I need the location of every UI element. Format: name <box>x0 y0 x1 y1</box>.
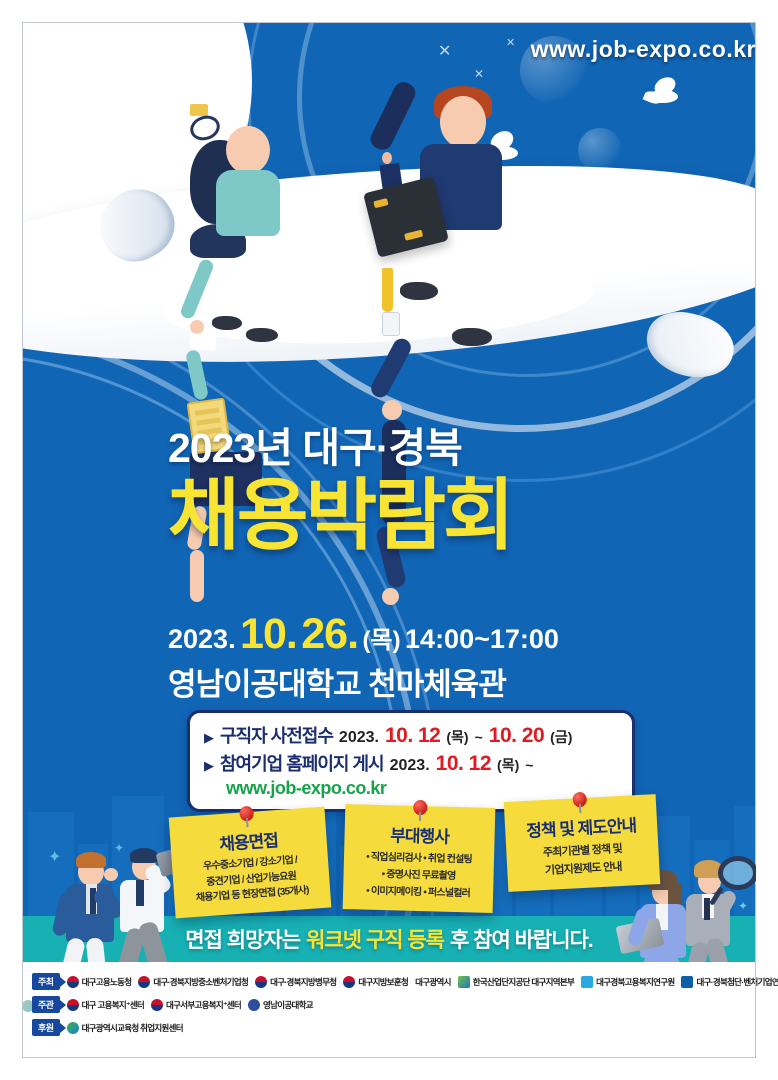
marquee-notice: 면접 희망자는 워크넷 구직 등록 후 참여 바랍니다. <box>22 916 756 962</box>
footer-org: 한국산업단지공단 대구지역본부 <box>458 976 574 988</box>
marquee-pre: 면접 희망자는 <box>185 924 300 954</box>
note-body: • 직업심리검사 • 취업 컨설팅 • 증명사진 무료촬영 • 이미지메이킹 •… <box>353 848 484 902</box>
person-woman-illustration <box>190 104 340 334</box>
footer-org: 대구·경북지방병무청 <box>255 976 336 988</box>
poster-root: ✕ ✕ ✕ ✕ <box>0 0 778 1080</box>
marquee-post: 후 참여 바랍니다. <box>450 924 593 954</box>
footer-org: 영남이공대학교 <box>248 999 313 1011</box>
triangle-bullet-icon: ▶ <box>204 731 214 744</box>
event-date-day: 26. <box>301 610 358 658</box>
footer-org: 대구경북고용복지연구원 <box>581 976 674 988</box>
taegeuk-logo-icon <box>67 999 79 1011</box>
pushpin-icon <box>413 797 428 819</box>
footer-row-host: 주최 대구고용노동청 대구·경북지방중소벤처기업청 대구·경북지방병무청 대구지… <box>32 973 748 990</box>
info-row-date-start: 10. 12 <box>385 724 440 748</box>
footer-org: 대구고용노동청 <box>67 976 132 988</box>
info-row-label: 구직자 사전접수 <box>220 722 333 748</box>
footer-org-name: 한국산업단지공단 대구지역본부 <box>473 976 574 988</box>
note-card-recruitment: 채용면접 우수중소기업 / 강소기업 / 중견기업 / 산업기능요원 채용기업 … <box>169 807 332 918</box>
title-year: 2023년 대구·경북 <box>168 414 756 474</box>
info-row-dow-start: (목) <box>497 755 519 775</box>
info-row-date-end: 10. 20 <box>489 724 544 748</box>
footer-organizations: 주최 대구고용노동청 대구·경북지방중소벤처기업청 대구·경북지방병무청 대구지… <box>22 968 756 1058</box>
note-card-policy-guide: 정책 및 제도안내 주최기관별 정책 및 기업지원제도 안내 <box>504 794 661 892</box>
footer-org-name: 대구광역시교육청 취업지원센터 <box>82 1022 183 1034</box>
footer-org: 대구광역시 <box>415 976 451 988</box>
footer-tag: 주최 <box>32 973 60 990</box>
footer-org-name: 대구·경북첨단·벤처기업연합회 <box>696 976 778 988</box>
event-date-prefix: 2023. <box>168 624 236 654</box>
footer-tag: 후원 <box>32 1019 60 1036</box>
footer-org-name: 대구지방보훈청 <box>358 976 408 988</box>
info-box-url[interactable]: www.job-expo.co.kr <box>204 778 618 799</box>
footer-org-name: 대구·경북지방병무청 <box>270 976 336 988</box>
kicox-logo-icon <box>458 976 470 988</box>
note-card-side-events: 부대행사 • 직업심리검사 • 취업 컨설팅 • 증명사진 무료촬영 • 이미지… <box>343 804 496 913</box>
event-date-month: 10. <box>240 610 297 658</box>
footer-org: 대구지방보훈청 <box>343 976 408 988</box>
footer-org-name: 대구 고용복지⁺센터 <box>82 999 144 1011</box>
footer-org-name: 대구고용노동청 <box>82 976 132 988</box>
footer-org-name: 영남이공대학교 <box>263 999 313 1011</box>
footer-tag: 주관 <box>32 996 60 1013</box>
footer-org: 대구 고용복지⁺센터 <box>67 999 144 1011</box>
taegeuk-logo-icon <box>67 976 79 988</box>
marquee-highlight: 워크넷 구직 등록 <box>306 924 444 954</box>
footer-org: 대구·경북지방중소벤처기업청 <box>138 976 248 988</box>
pushpin-icon <box>239 803 255 826</box>
footer-org-name: 대구서부고용복지⁺센터 <box>166 999 241 1011</box>
taegeuk-logo-icon <box>255 976 267 988</box>
registration-info-box: ▶ 구직자 사전접수 2023. 10. 12 (목) ~ 10. 20 (금)… <box>187 710 635 812</box>
note-title: 정책 및 제도안내 <box>515 811 648 843</box>
univ-logo-icon <box>248 999 260 1011</box>
taegeuk-logo-icon <box>343 976 355 988</box>
taegeuk-logo-icon <box>151 999 163 1011</box>
info-row-date-start: 10. 12 <box>436 752 491 776</box>
taegeuk-logo-icon <box>138 976 150 988</box>
info-row-dow-end: (금) <box>550 727 572 747</box>
person-man-illustration <box>382 80 572 350</box>
info-row: ▶ 참여기업 홈페이지 게시 2023. 10. 12 (목) ~ <box>204 750 618 776</box>
event-venue: 영남이공대학교 천마체육관 <box>168 659 506 704</box>
title-main: 채용박람회 <box>168 476 756 556</box>
info-row-label: 참여기업 홈페이지 게시 <box>220 750 384 776</box>
footer-org-name: 대구·경북지방중소벤처기업청 <box>153 976 248 988</box>
footer-org-name: 대구광역시 <box>415 976 451 988</box>
venture-logo-icon <box>681 976 693 988</box>
event-day-of-week: (목) <box>363 627 401 654</box>
dgi-logo-icon <box>581 976 593 988</box>
note-title: 부대행사 <box>354 820 485 848</box>
necktie-icon <box>382 268 393 312</box>
footer-org: 대구광역시교육청 취업지원센터 <box>67 1022 183 1034</box>
id-badge-icon <box>382 312 400 336</box>
event-date-line: 2023. 10. 26. (목) 14:00~17:00 <box>168 610 559 659</box>
footer-row-sponsor: 후원 대구광역시교육청 취업지원센터 <box>32 1019 748 1036</box>
info-row: ▶ 구직자 사전접수 2023. 10. 12 (목) ~ 10. 20 (금) <box>204 722 618 748</box>
triangle-bullet-icon: ▶ <box>204 759 214 772</box>
edu-office-logo-icon <box>67 1022 79 1034</box>
note-body: 주최기관별 정책 및 기업지원제도 안내 <box>516 840 650 882</box>
info-row-year: 2023. <box>339 729 379 747</box>
poster-title-block: 2023년 대구·경북 채용박람회 <box>22 414 756 556</box>
site-url-header[interactable]: www.job-expo.co.kr <box>531 36 756 63</box>
footer-row-organizer: 주관 대구 고용복지⁺센터 대구서부고용복지⁺센터 영남이공대학교 <box>32 996 748 1013</box>
magnifier-icon <box>718 856 756 890</box>
footer-org-name: 대구경북고용복지연구원 <box>596 976 674 988</box>
info-row-range-separator: ~ <box>475 729 483 745</box>
footer-org: 대구서부고용복지⁺센터 <box>151 999 241 1011</box>
badge-tag-icon <box>190 104 208 116</box>
footer-org: 대구·경북첨단·벤처기업연합회 <box>681 976 778 988</box>
event-time: 14:00~17:00 <box>405 624 559 654</box>
dove-icon <box>640 80 686 110</box>
info-row-range-separator: ~ <box>525 757 533 773</box>
info-row-year: 2023. <box>390 757 430 775</box>
info-row-dow-start: (목) <box>446 727 468 747</box>
pushpin-icon <box>572 789 587 812</box>
note-body: 우수중소기업 / 강소기업 / 중견기업 / 산업기능요원 채용기업 등 현장면… <box>182 851 321 907</box>
